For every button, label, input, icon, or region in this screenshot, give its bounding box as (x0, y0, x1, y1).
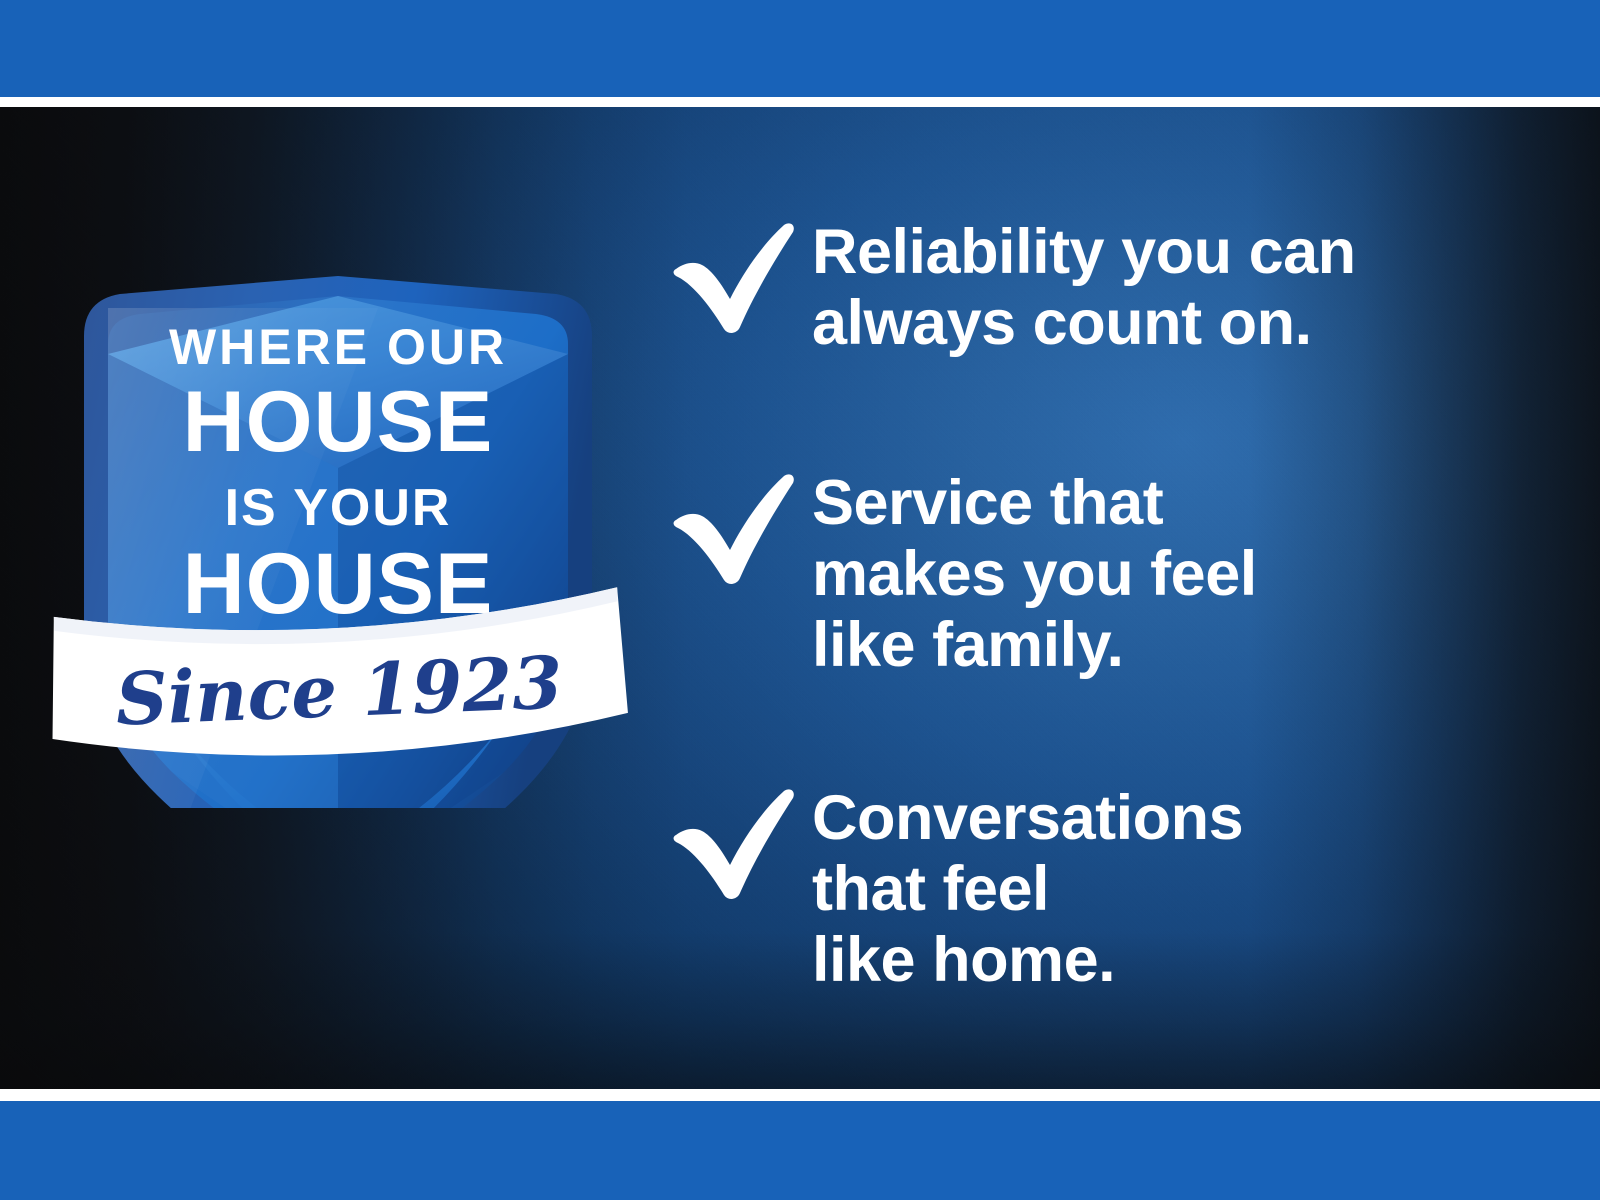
feature-item-1: Reliability you can always count on. (660, 211, 1356, 359)
badge-line-4: HOUSE (183, 536, 494, 632)
bottom-brand-band (0, 1101, 1600, 1200)
feature-item-3: Conversations that feel like home. (660, 777, 1243, 997)
badge-line-2: HOUSE (183, 374, 494, 470)
check-icon (660, 462, 800, 592)
ribbon-script-text: Since 1923 (114, 639, 564, 741)
top-brand-band (0, 0, 1600, 97)
feature-text-3: Conversations that feel like home. (812, 777, 1243, 997)
badge-line-1: WHERE OUR (169, 319, 507, 375)
check-icon (660, 777, 800, 907)
shield-badge: WHERE OUR HOUSE IS YOUR HOUSE Since 1923 (48, 168, 628, 808)
feature-item-2: Service that makes you feel like family. (660, 462, 1257, 682)
feature-text-2: Service that makes you feel like family. (812, 462, 1257, 682)
feature-text-1: Reliability you can always count on. (812, 211, 1356, 359)
feature-list: Reliability you can always count on. Ser… (660, 107, 1600, 1089)
badge-line-3: IS YOUR (225, 479, 452, 537)
promo-graphic: WHERE OUR HOUSE IS YOUR HOUSE Since 1923… (0, 0, 1600, 1200)
check-icon (660, 211, 800, 341)
